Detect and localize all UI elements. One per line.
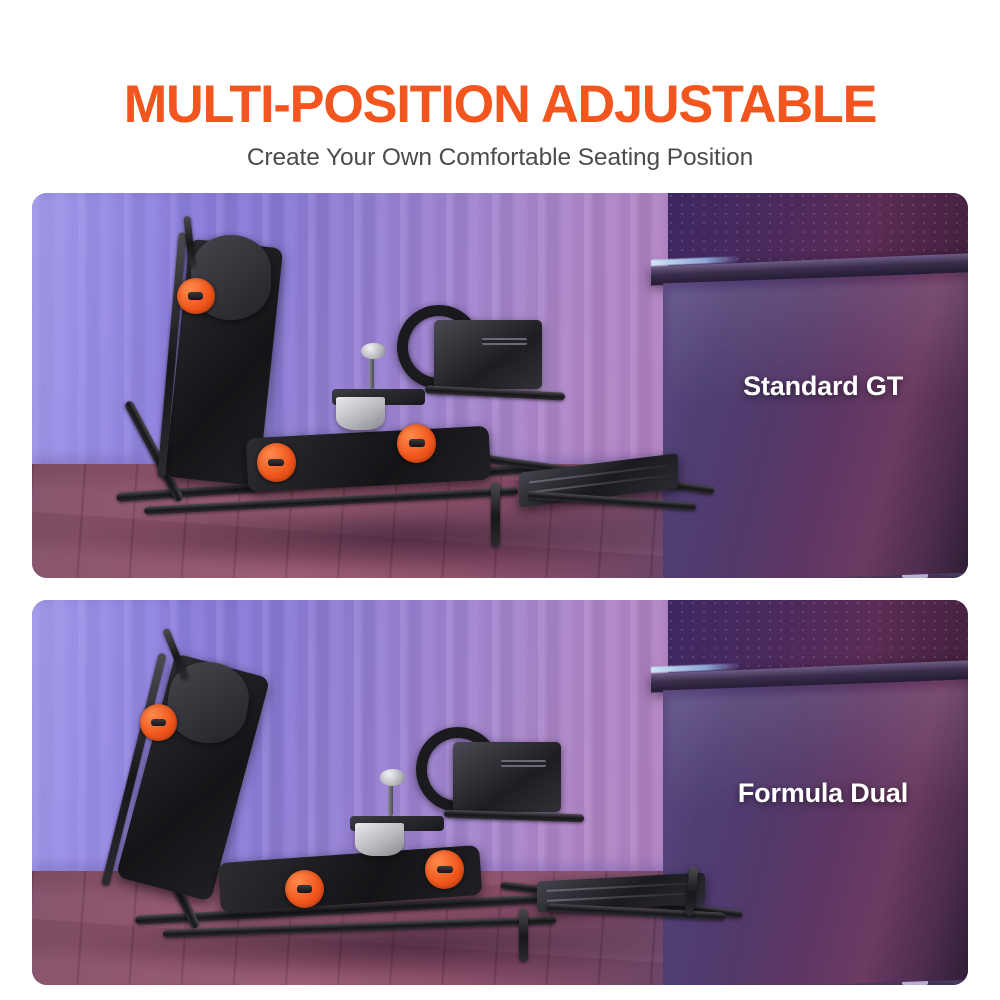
user-glasses-icon [32, 600, 34, 602]
shifter-knob [361, 343, 385, 359]
adjustment-knob-shifter[interactable] [397, 424, 436, 463]
shifter-knob [380, 769, 404, 785]
adjustment-knob-seat-base[interactable] [257, 443, 296, 482]
rig-rear-upright-tube [491, 482, 500, 547]
wheel-base-unit [434, 320, 542, 389]
product-image-panel-formula-dual[interactable]: Formula Dual [32, 600, 968, 985]
pedal-ridge [548, 892, 696, 902]
adjustment-knob-shifter[interactable] [425, 850, 464, 889]
page-title: MULTI-POSITION ADJUSTABLE [8, 78, 993, 132]
pedal-ridge [548, 883, 696, 893]
wheel-mount-arm [444, 809, 585, 822]
drink-cup [336, 397, 385, 430]
adjustment-knob-headrest[interactable] [140, 704, 177, 741]
product-image-panel-standard-gt[interactable]: Standard GT [32, 193, 968, 578]
rig-rear-upright-tube [519, 908, 528, 962]
wheel-base-unit [453, 742, 561, 811]
pedal-ridge [528, 474, 668, 493]
adjustment-knob-seat-base[interactable] [285, 870, 324, 909]
panel-label-standard-gt: Standard GT [743, 371, 903, 402]
adjustment-knob-headrest[interactable] [177, 278, 214, 315]
panel-label-formula-dual: Formula Dual [738, 778, 908, 809]
page-subtitle: Create Your Own Comfortable Seating Posi… [0, 144, 1000, 172]
drink-cup [355, 823, 404, 856]
header: MULTI-POSITION ADJUSTABLE Create Your Ow… [0, 0, 1000, 172]
